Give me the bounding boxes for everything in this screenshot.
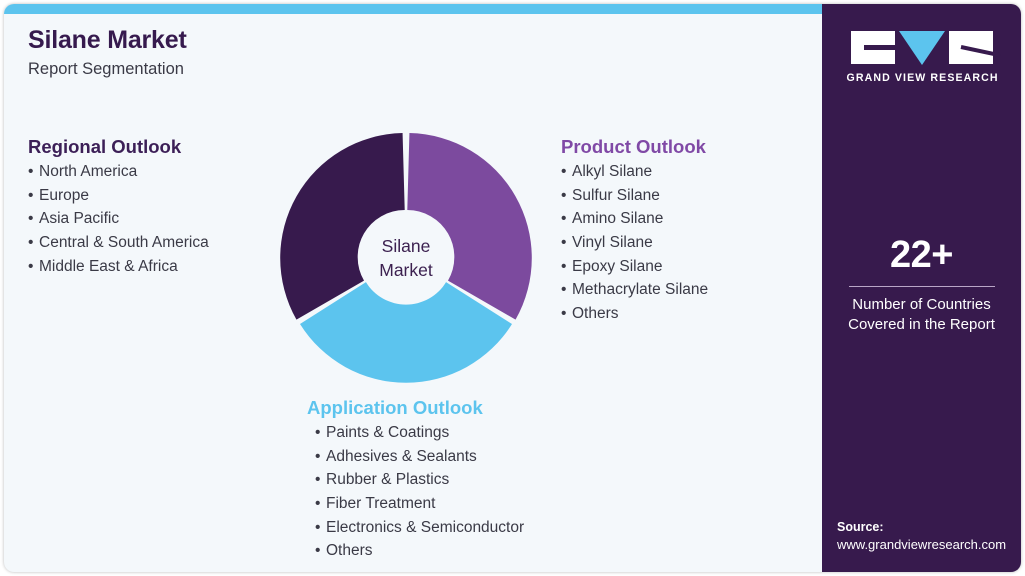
stat-label-line1: Number of Countries (832, 295, 1011, 315)
top-accent-bar (4, 4, 822, 14)
product-outlook-heading: Product Outlook (561, 135, 811, 158)
bullet-icon: • (561, 231, 572, 255)
bullet-icon: • (28, 207, 39, 231)
list-item: •Adhesives & Sealants (307, 445, 607, 469)
stat-value: 22+ (832, 236, 1011, 274)
bullet-icon: • (315, 445, 326, 469)
list-item: •Others (307, 539, 607, 563)
logo-g-icon (851, 31, 895, 64)
bullet-icon: • (561, 160, 572, 184)
list-item: •Fiber Treatment (307, 492, 607, 516)
product-outlook-list: •Alkyl Silane •Sulfur Silane •Amino Sila… (561, 160, 811, 325)
donut-segment-regional (280, 133, 405, 320)
list-item-label: Middle East & Africa (39, 258, 178, 275)
list-item-label: Rubber & Plastics (326, 471, 449, 488)
infographic-root: Silane Market Report Segmentation Region… (0, 0, 1025, 576)
list-item-label: Others (326, 542, 373, 559)
page-title: Silane Market (28, 26, 728, 55)
list-item: •Asia Pacific (28, 207, 288, 231)
logo-marks (847, 31, 997, 65)
source-url[interactable]: www.grandviewresearch.com (837, 536, 1015, 554)
stat-label-line2: Covered in the Report (832, 315, 1011, 335)
list-item-label: Vinyl Silane (572, 234, 653, 251)
bullet-icon: • (315, 492, 326, 516)
list-item: •Central & South America (28, 231, 288, 255)
bullet-icon: • (315, 468, 326, 492)
bullet-icon: • (561, 207, 572, 231)
list-item-label: Central & South America (39, 234, 209, 251)
bullet-icon: • (561, 278, 572, 302)
logo-v-triangle-icon (899, 31, 945, 65)
list-item-label: Epoxy Silane (572, 258, 662, 275)
list-item: •Amino Silane (561, 207, 811, 231)
product-outlook-block: Product Outlook •Alkyl Silane •Sulfur Si… (561, 135, 811, 325)
regional-outlook-heading: Regional Outlook (28, 135, 288, 158)
countries-stat-block: 22+ Number of Countries Covered in the R… (822, 236, 1021, 334)
list-item-label: Electronics & Semiconductor (326, 519, 524, 536)
list-item: •Methacrylate Silane (561, 278, 811, 302)
list-item-label: Fiber Treatment (326, 495, 435, 512)
application-outlook-list: •Paints & Coatings •Adhesives & Sealants… (307, 421, 607, 563)
donut-segment-product (407, 133, 532, 320)
list-item-label: North America (39, 163, 137, 180)
bullet-icon: • (28, 160, 39, 184)
list-item-label: Methacrylate Silane (572, 281, 708, 298)
stat-divider (849, 286, 995, 287)
list-item-label: Paints & Coatings (326, 424, 449, 441)
list-item-label: Amino Silane (572, 210, 663, 227)
regional-outlook-list: •North America •Europe •Asia Pacific •Ce… (28, 160, 288, 278)
application-outlook-block: Application Outlook •Paints & Coatings •… (307, 396, 607, 563)
list-item: •Others (561, 302, 811, 326)
bullet-icon: • (28, 255, 39, 279)
bullet-icon: • (28, 231, 39, 255)
list-item: •Paints & Coatings (307, 421, 607, 445)
donut-chart-svg (279, 131, 533, 385)
list-item-label: Sulfur Silane (572, 187, 660, 204)
regional-outlook-block: Regional Outlook •North America •Europe … (28, 135, 288, 278)
application-outlook-heading: Application Outlook (307, 396, 607, 419)
list-item: •North America (28, 160, 288, 184)
logo-wordmark: GRAND VIEW RESEARCH (847, 72, 997, 84)
list-item: •Epoxy Silane (561, 255, 811, 279)
bullet-icon: • (561, 184, 572, 208)
list-item: •Rubber & Plastics (307, 468, 607, 492)
grand-view-research-logo: GRAND VIEW RESEARCH (847, 31, 997, 84)
bullet-icon: • (561, 255, 572, 279)
logo-r-icon (949, 31, 993, 64)
list-item: •Vinyl Silane (561, 231, 811, 255)
side-panel: GRAND VIEW RESEARCH 22+ Number of Countr… (822, 4, 1021, 572)
list-item: •Europe (28, 184, 288, 208)
header: Silane Market Report Segmentation (28, 26, 728, 80)
bullet-icon: • (315, 421, 326, 445)
list-item: •Electronics & Semiconductor (307, 516, 607, 540)
list-item-label: Asia Pacific (39, 210, 119, 227)
list-item-label: Others (572, 305, 619, 322)
source-title: Source: (837, 519, 1015, 536)
list-item-label: Alkyl Silane (572, 163, 652, 180)
bullet-icon: • (315, 516, 326, 540)
page-subtitle: Report Segmentation (28, 60, 728, 80)
list-item-label: Europe (39, 187, 89, 204)
bullet-icon: • (315, 539, 326, 563)
list-item: •Middle East & Africa (28, 255, 288, 279)
report-card: Silane Market Report Segmentation Region… (4, 4, 1021, 572)
bullet-icon: • (561, 302, 572, 326)
list-item-label: Adhesives & Sealants (326, 448, 477, 465)
donut-chart: Silane Market (279, 131, 533, 385)
list-item: •Sulfur Silane (561, 184, 811, 208)
list-item: •Alkyl Silane (561, 160, 811, 184)
source-block: Source: www.grandviewresearch.com (837, 519, 1015, 554)
bullet-icon: • (28, 184, 39, 208)
